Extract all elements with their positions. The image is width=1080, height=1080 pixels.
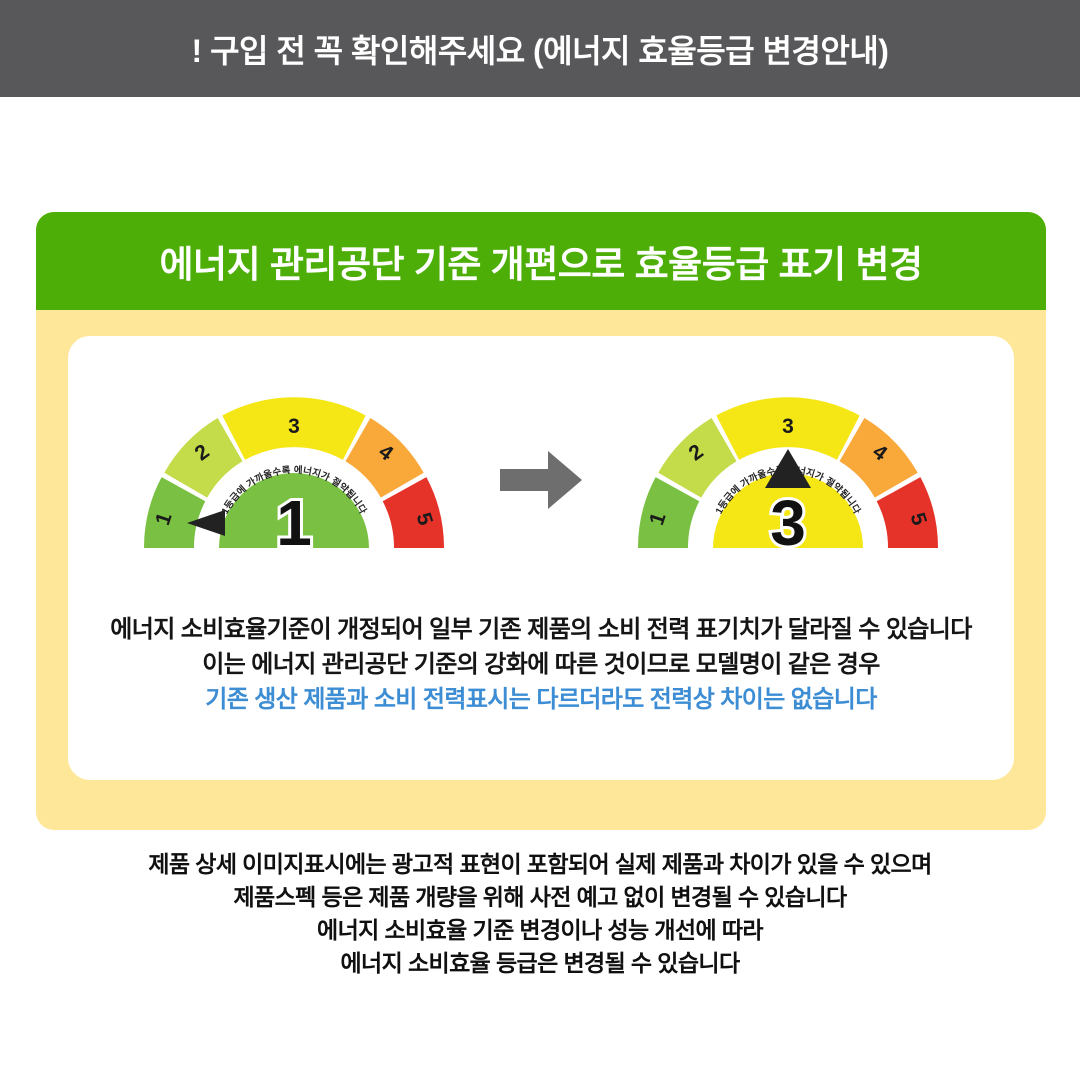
page-title: ! 구입 전 꼭 확인해주세요 (에너지 효율등급 변경안내) — [192, 26, 889, 72]
card-text-block: 에너지 소비효율기준이 개정되어 일부 기존 제품의 소비 전력 표기치가 달라… — [68, 612, 1014, 717]
transition-arrow-wrap — [493, 385, 589, 575]
gauge-before-grade-number: 1 — [276, 487, 312, 559]
right-arrow-icon — [498, 449, 584, 511]
card-text-line-1: 에너지 소비효율기준이 개정되어 일부 기존 제품의 소비 전력 표기치가 달라… — [68, 612, 1014, 647]
gauge-before-svg: 1 2 3 4 5 1등급에 가까울수록 에너지가 절약됩니다 1 — [139, 385, 449, 575]
gauge-after: 1 2 3 4 5 1등급에 가까울수록 에너지가 절약됩니다 3 — [633, 385, 943, 575]
gauge-segment-label-3: 3 — [782, 415, 794, 438]
disclaimer-line-1: 제품 상세 이미지표시에는 광고적 표현이 포함되어 실제 제품과 차이가 있을… — [0, 848, 1080, 881]
gauge-after-svg: 1 2 3 4 5 1등급에 가까울수록 에너지가 절약됩니다 3 — [633, 385, 943, 575]
disclaimer-block: 제품 상세 이미지표시에는 광고적 표현이 포함되어 실제 제품과 차이가 있을… — [0, 848, 1080, 980]
gauge-comparison-row: 1 2 3 4 5 1등급에 가까울수록 에너지가 절약됩니다 1 — [68, 364, 1014, 596]
gauge-after-grade-number: 3 — [770, 487, 806, 559]
header-bar: ! 구입 전 꼭 확인해주세요 (에너지 효율등급 변경안내) — [0, 0, 1080, 97]
gauge-before: 1 2 3 4 5 1등급에 가까울수록 에너지가 절약됩니다 1 — [139, 385, 449, 575]
panel-banner: 에너지 관리공단 기준 개편으로 효율등급 표기 변경 — [36, 212, 1046, 310]
card-text-line-3: 기존 생산 제품과 소비 전력표시는 다르더라도 전력상 차이는 없습니다 — [68, 682, 1014, 717]
card-text-line-2: 이는 에너지 관리공단 기준의 강화에 따른 것이므로 모델명이 같은 경우 — [68, 647, 1014, 682]
panel-banner-title: 에너지 관리공단 기준 개편으로 효율등급 표기 변경 — [159, 234, 922, 288]
gauge-segment-label-3: 3 — [288, 415, 300, 438]
inner-white-card: 1 2 3 4 5 1등급에 가까울수록 에너지가 절약됩니다 1 — [68, 336, 1014, 780]
disclaimer-line-3: 에너지 소비효율 기준 변경이나 성능 개선에 따라 — [0, 914, 1080, 947]
disclaimer-line-4: 에너지 소비효율 등급은 변경될 수 있습니다 — [0, 947, 1080, 980]
disclaimer-line-2: 제품스펙 등은 제품 개량을 위해 사전 예고 없이 변경될 수 있습니다 — [0, 881, 1080, 914]
energy-grade-notice-panel: 에너지 관리공단 기준 개편으로 효율등급 표기 변경 — [36, 212, 1046, 830]
